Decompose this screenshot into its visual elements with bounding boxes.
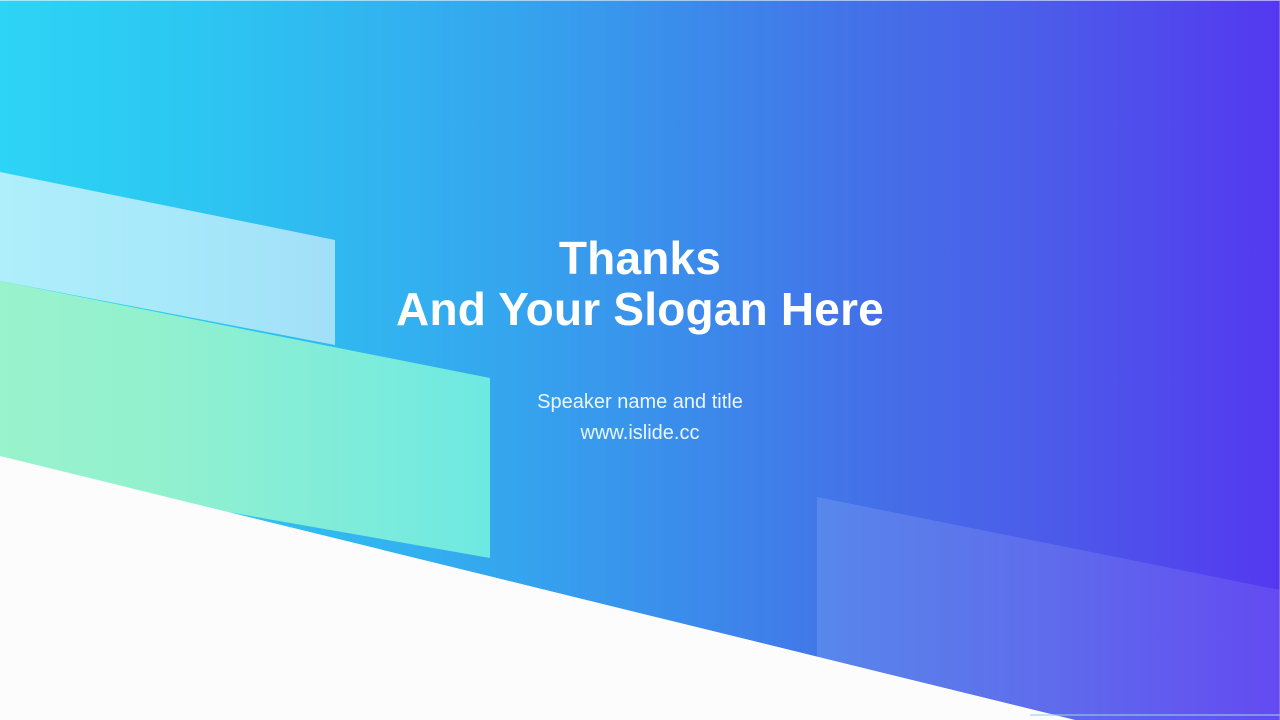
website-url: www.islide.cc [537,418,743,449]
slide-content: Thanks And Your Slogan Here Speaker name… [0,0,1280,720]
title-block: Thanks And Your Slogan Here [396,233,884,335]
subtitle-block: Speaker name and title www.islide.cc [537,387,743,449]
slide-title-primary: Thanks [396,233,884,283]
speaker-name-and-title: Speaker name and title [537,387,743,418]
slide-title-secondary: And Your Slogan Here [396,283,884,335]
slide-canvas: Thanks And Your Slogan Here Speaker name… [0,0,1280,720]
